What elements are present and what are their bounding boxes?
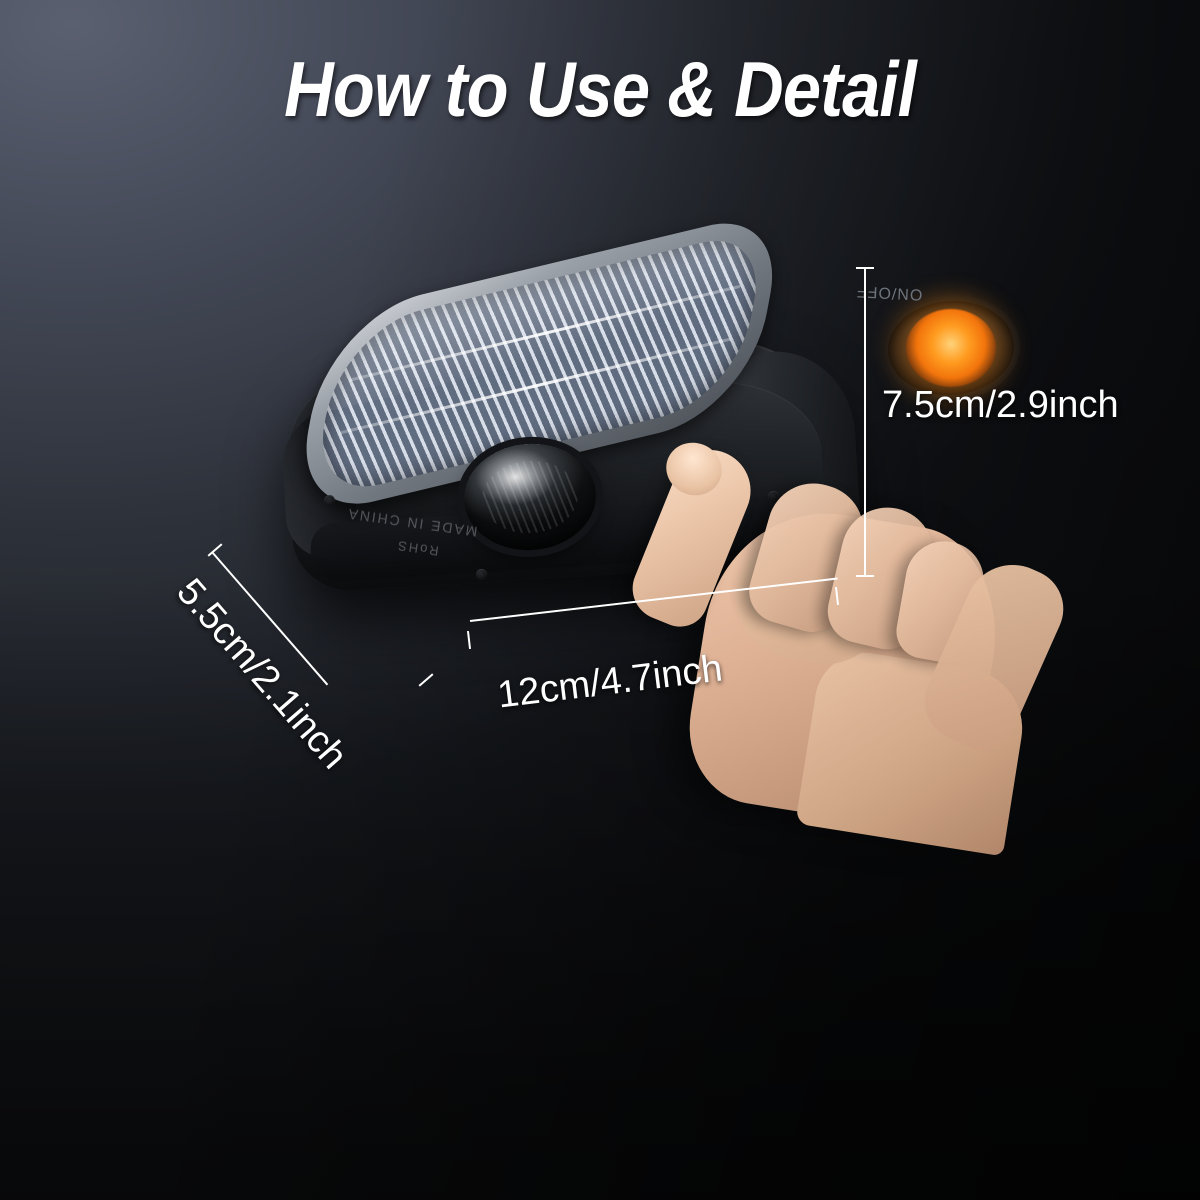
power-button-glow[interactable] bbox=[906, 309, 996, 387]
height-dimension-cap-top bbox=[856, 267, 874, 269]
height-dimension-line bbox=[864, 267, 866, 577]
depth-dimension-cap-bottom bbox=[419, 673, 434, 686]
hero-product-photo: ON/OFF MADE IN CHINA RoHS 7.5cm/2.9inch bbox=[0, 91, 1200, 801]
vent-hole bbox=[324, 495, 335, 506]
height-dimension-cap-bottom bbox=[856, 575, 874, 577]
fresnel-pattern bbox=[480, 458, 580, 537]
hand-pressing-button bbox=[640, 421, 1110, 811]
height-dimension-label: 7.5cm/2.9inch bbox=[882, 384, 1119, 427]
product-infographic: How to Use & Detail ON/OFF bbox=[0, 0, 1200, 1200]
width-dimension-cap-left bbox=[467, 631, 471, 649]
vent-hole bbox=[476, 569, 487, 580]
